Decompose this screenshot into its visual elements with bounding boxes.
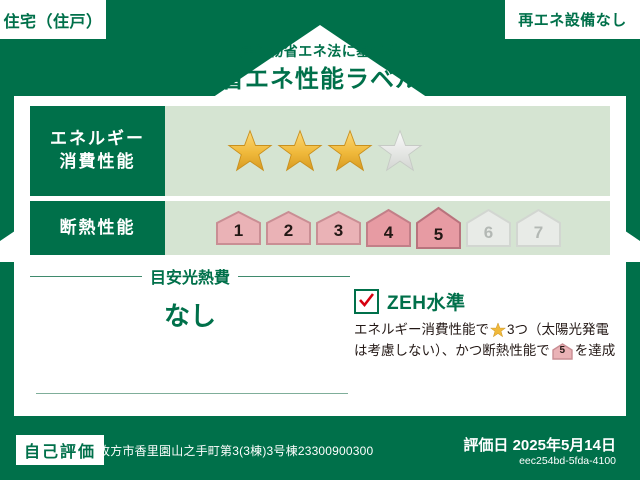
utility-cost-bottom-divider: [36, 393, 348, 394]
insulation-level-4-value: 4: [384, 223, 393, 248]
insulation-label-line1: 断熱性能: [60, 217, 136, 240]
insulation-level-6: 6: [465, 208, 512, 248]
star-icon-small: [490, 322, 506, 338]
building-type-tag: 住宅（住戸）: [0, 0, 106, 39]
zeh-line1-text-a: エネルギー消費性能で: [354, 320, 489, 341]
self-evaluation-badge: 自己評価: [16, 435, 104, 465]
insulation-level-7: 7: [515, 208, 562, 248]
energy-label-line1: エネルギー: [50, 128, 145, 151]
utility-cost-title: 目安光熱費: [150, 264, 230, 288]
zeh-standard-block: ZEH水準 エネルギー消費性能で 3つ （太陽光発電 は考慮しない）、かつ断熱性…: [354, 288, 616, 362]
insulation-level-2-value: 2: [284, 221, 293, 246]
divider-right: [238, 276, 350, 277]
evaluation-id: eec254bd-5fda-4100: [519, 455, 616, 467]
insulation-level-scale: 1 2 3 4 5: [165, 201, 610, 255]
utility-cost-value: なし: [30, 296, 350, 333]
insulation-level-badge-value: 5: [559, 343, 565, 360]
energy-star-rating: [165, 106, 610, 196]
label-subtitle: 建築物省エネ法に基づく: [0, 41, 640, 61]
insulation-level-6-value: 6: [484, 223, 493, 248]
insulation-level-1-value: 1: [234, 221, 243, 246]
star-icon-empty: [377, 128, 423, 174]
zeh-description-line-1: エネルギー消費性能で 3つ （太陽光発電: [354, 320, 616, 341]
insulation-level-7-value: 7: [534, 223, 543, 248]
insulation-level-3: 3: [315, 210, 362, 246]
insulation-performance-row: 断熱性能 1 2 3 4: [30, 201, 610, 255]
zeh-line2-text-a: は考慮しない）、かつ断熱性能で: [354, 341, 550, 362]
label-footer: 自己評価 枚方市香里園山之手町第3(3棟)3号棟23300900300 評価日 …: [0, 416, 640, 480]
energy-performance-row: エネルギー 消費性能: [30, 106, 610, 196]
insulation-level-3-value: 3: [334, 221, 343, 246]
energy-performance-label: エネルギー 消費性能: [30, 106, 165, 196]
label-title: 省エネ性能ラベル: [0, 59, 640, 94]
insulation-level-5: 5: [415, 206, 462, 250]
zeh-line2-text-b: を達成: [575, 341, 616, 362]
divider-left: [30, 276, 142, 277]
energy-label-line2: 消費性能: [60, 151, 136, 174]
star-icon-filled: [227, 128, 273, 174]
insulation-level-1: 1: [215, 210, 262, 246]
zeh-description-line-2: は考慮しない）、かつ断熱性能で 5 を達成: [354, 341, 616, 362]
insulation-level-2: 2: [265, 210, 312, 246]
insulation-performance-label: 断熱性能: [30, 201, 165, 255]
property-address: 枚方市香里園山之手町第3(3棟)3号棟23300900300: [98, 442, 373, 459]
checkbox-checked-icon: [354, 289, 379, 314]
zeh-heading: ZEH水準: [354, 288, 616, 315]
zeh-title: ZEH水準: [387, 288, 466, 315]
utility-cost-heading: 目安光熱費: [30, 264, 350, 288]
zeh-line1-text-b: （太陽光発電: [528, 320, 609, 341]
star-icon-filled: [327, 128, 373, 174]
energy-performance-label: 住宅（住戸） 再エネ設備なし 建築物省エネ法に基づく 省エネ性能ラベル エネルギ…: [0, 0, 640, 480]
renewable-energy-tag: 再エネ設備なし: [505, 0, 640, 39]
insulation-level-badge-small: 5: [552, 343, 573, 360]
evaluation-date: 評価日 2025年5月14日: [463, 434, 616, 455]
insulation-level-5-value: 5: [434, 225, 443, 250]
star-icon-filled: [277, 128, 323, 174]
label-body-panel: エネルギー 消費性能: [14, 96, 626, 416]
insulation-level-4: 4: [365, 208, 412, 248]
zeh-line1-star-count: 3つ: [507, 320, 528, 341]
